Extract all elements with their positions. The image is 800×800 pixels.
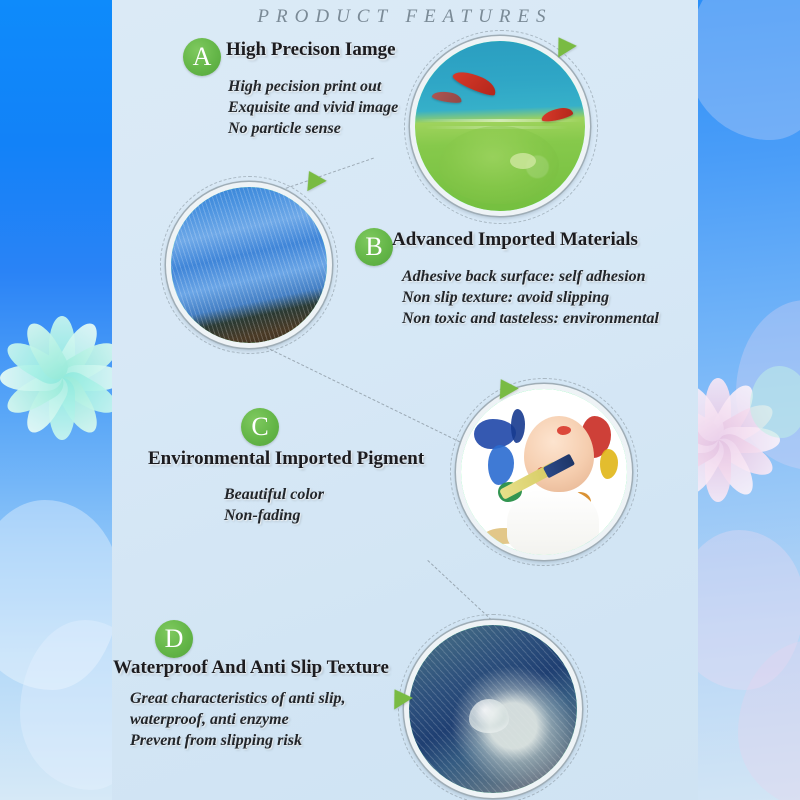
- connector-b-to-c: [248, 338, 461, 442]
- right-decorative-panel: [698, 0, 800, 800]
- feature-b-bullet-1: Adhesive back surface: self adhesion: [402, 266, 659, 287]
- feature-b-badge: B: [355, 228, 393, 266]
- feature-d-bullet-1: Great characteristics of anti slip,: [130, 688, 346, 709]
- blob-shape: [698, 0, 800, 140]
- feature-a-bullets: High pecision print out Exquisite and vi…: [228, 76, 398, 139]
- feature-a-bullet-2: Exquisite and vivid image: [228, 97, 398, 118]
- feature-c-badge: C: [241, 408, 279, 446]
- painting-baby-photo: [456, 384, 632, 560]
- feature-c-bullet-2: Non-fading: [224, 505, 324, 526]
- page-title: PRODUCT FEATURES: [112, 6, 698, 28]
- feature-a-bullet-3: No particle sense: [228, 118, 398, 139]
- feature-c-heading: Environmental Imported Pigment: [148, 448, 424, 470]
- waterproof-texture-photo: [404, 620, 582, 798]
- feature-c-bullets: Beautiful color Non-fading: [224, 484, 324, 526]
- arrow-marker-b: [299, 166, 326, 191]
- feature-b-bullets: Adhesive back surface: self adhesion Non…: [402, 266, 659, 329]
- feature-d-heading: Waterproof And Anti Slip Texture: [113, 657, 389, 679]
- feature-b-bullet-2: Non slip texture: avoid slipping: [402, 287, 659, 308]
- feature-d-badge: D: [155, 620, 193, 658]
- left-decorative-panel: [0, 0, 112, 800]
- feature-b-heading: Advanced Imported Materials: [392, 229, 638, 251]
- feature-a-badge: A: [183, 38, 221, 76]
- feature-a-heading: High Precison Iamge: [226, 39, 396, 61]
- feature-d-bullet-3: Prevent from slipping risk: [130, 730, 346, 751]
- feature-d-bullets: Great characteristics of anti slip, wate…: [130, 688, 346, 751]
- feature-d-bullet-2: waterproof, anti enzyme: [130, 709, 346, 730]
- feature-c-bullet-1: Beautiful color: [224, 484, 324, 505]
- blue-fabric-material-photo: [166, 182, 332, 348]
- koi-pond-print-photo: [410, 36, 590, 216]
- blob-shape: [750, 366, 800, 438]
- feature-b-bullet-3: Non toxic and tasteless: environmental: [402, 308, 659, 329]
- infographic-canvas: PRODUCT FEATURES A High Precison: [0, 0, 800, 800]
- feature-a-bullet-1: High pecision print out: [228, 76, 398, 97]
- content-panel: PRODUCT FEATURES A High Precison: [112, 0, 698, 800]
